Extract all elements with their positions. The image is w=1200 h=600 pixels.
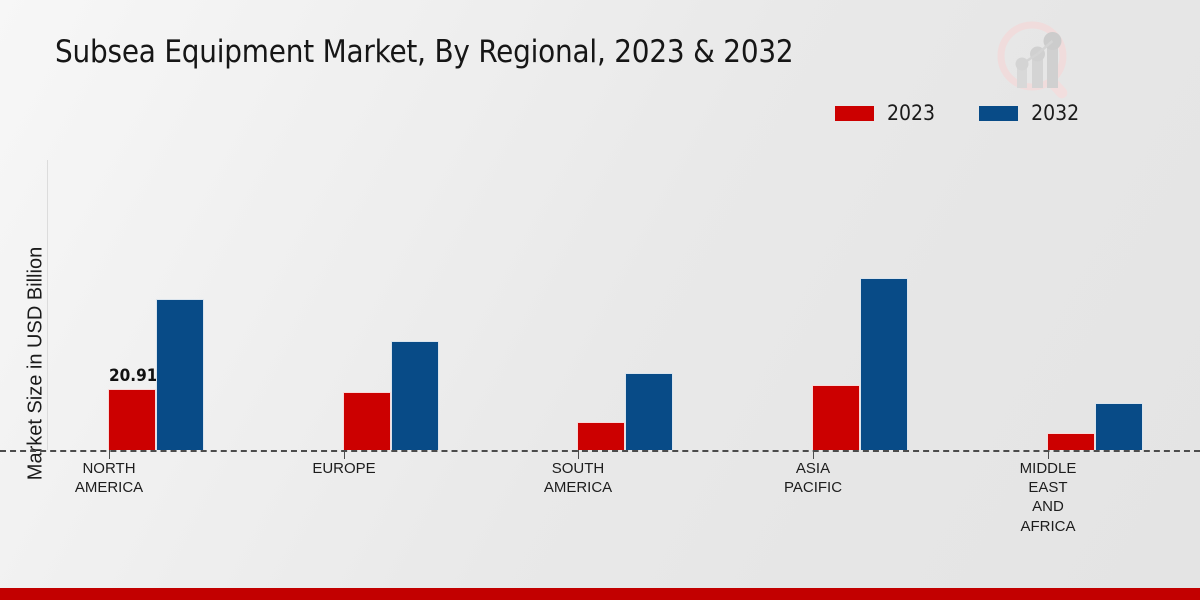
x-axis-category-label: EUROPE: [254, 459, 434, 478]
bar-group: [343, 160, 439, 450]
legend-label-2023: 2023: [887, 103, 935, 124]
chart-title: Subsea Equipment Market, By Regional, 20…: [55, 34, 793, 70]
legend-swatch-2023: [835, 106, 874, 121]
x-axis-tick: [813, 450, 814, 459]
bar-group: 20.91: [108, 160, 204, 450]
bar-2032-asia-pacific[interactable]: [860, 278, 908, 450]
bar-2032-north-america[interactable]: [156, 299, 204, 450]
x-axis-tick: [578, 450, 579, 459]
x-axis-tick: [344, 450, 345, 459]
bar-2032-middle-east-and-africa[interactable]: [1095, 403, 1143, 450]
x-axis-category-label: ASIAPACIFIC: [723, 459, 903, 497]
x-axis-category-label: NORTHAMERICA: [19, 459, 199, 497]
x-axis-category-label: SOUTHAMERICA: [488, 459, 668, 497]
bar-group: [577, 160, 673, 450]
footer-accent-bar: [0, 588, 1200, 600]
bar-group: [1047, 160, 1143, 450]
x-axis-baseline: [0, 450, 1200, 452]
chart-page: Subsea Equipment Market, By Regional, 20…: [0, 0, 1200, 600]
chart-legend: 2023 2032: [835, 103, 1079, 124]
plot-area: 20.91: [47, 160, 1200, 450]
legend-label-2032: 2032: [1031, 103, 1079, 124]
legend-item-2023[interactable]: 2023: [835, 103, 935, 124]
bar-value-label: 20.91: [109, 366, 155, 386]
bar-group: [812, 160, 908, 450]
legend-item-2032[interactable]: 2032: [979, 103, 1079, 124]
bar-2023-europe[interactable]: [343, 392, 391, 450]
bar-2032-europe[interactable]: [391, 341, 439, 450]
bar-2023-south-america[interactable]: [577, 422, 625, 450]
x-axis-tick: [1048, 450, 1049, 459]
bar-2023-asia-pacific[interactable]: [812, 385, 860, 450]
bar-2032-south-america[interactable]: [625, 373, 673, 450]
x-axis-category-label: MIDDLEEASTANDAFRICA: [958, 459, 1138, 536]
bar-2023-north-america[interactable]: 20.91: [108, 389, 156, 450]
bar-2023-middle-east-and-africa[interactable]: [1047, 433, 1095, 450]
market-research-future-logo-watermark: [988, 14, 1084, 110]
x-axis-tick: [109, 450, 110, 459]
legend-swatch-2032: [979, 106, 1018, 121]
